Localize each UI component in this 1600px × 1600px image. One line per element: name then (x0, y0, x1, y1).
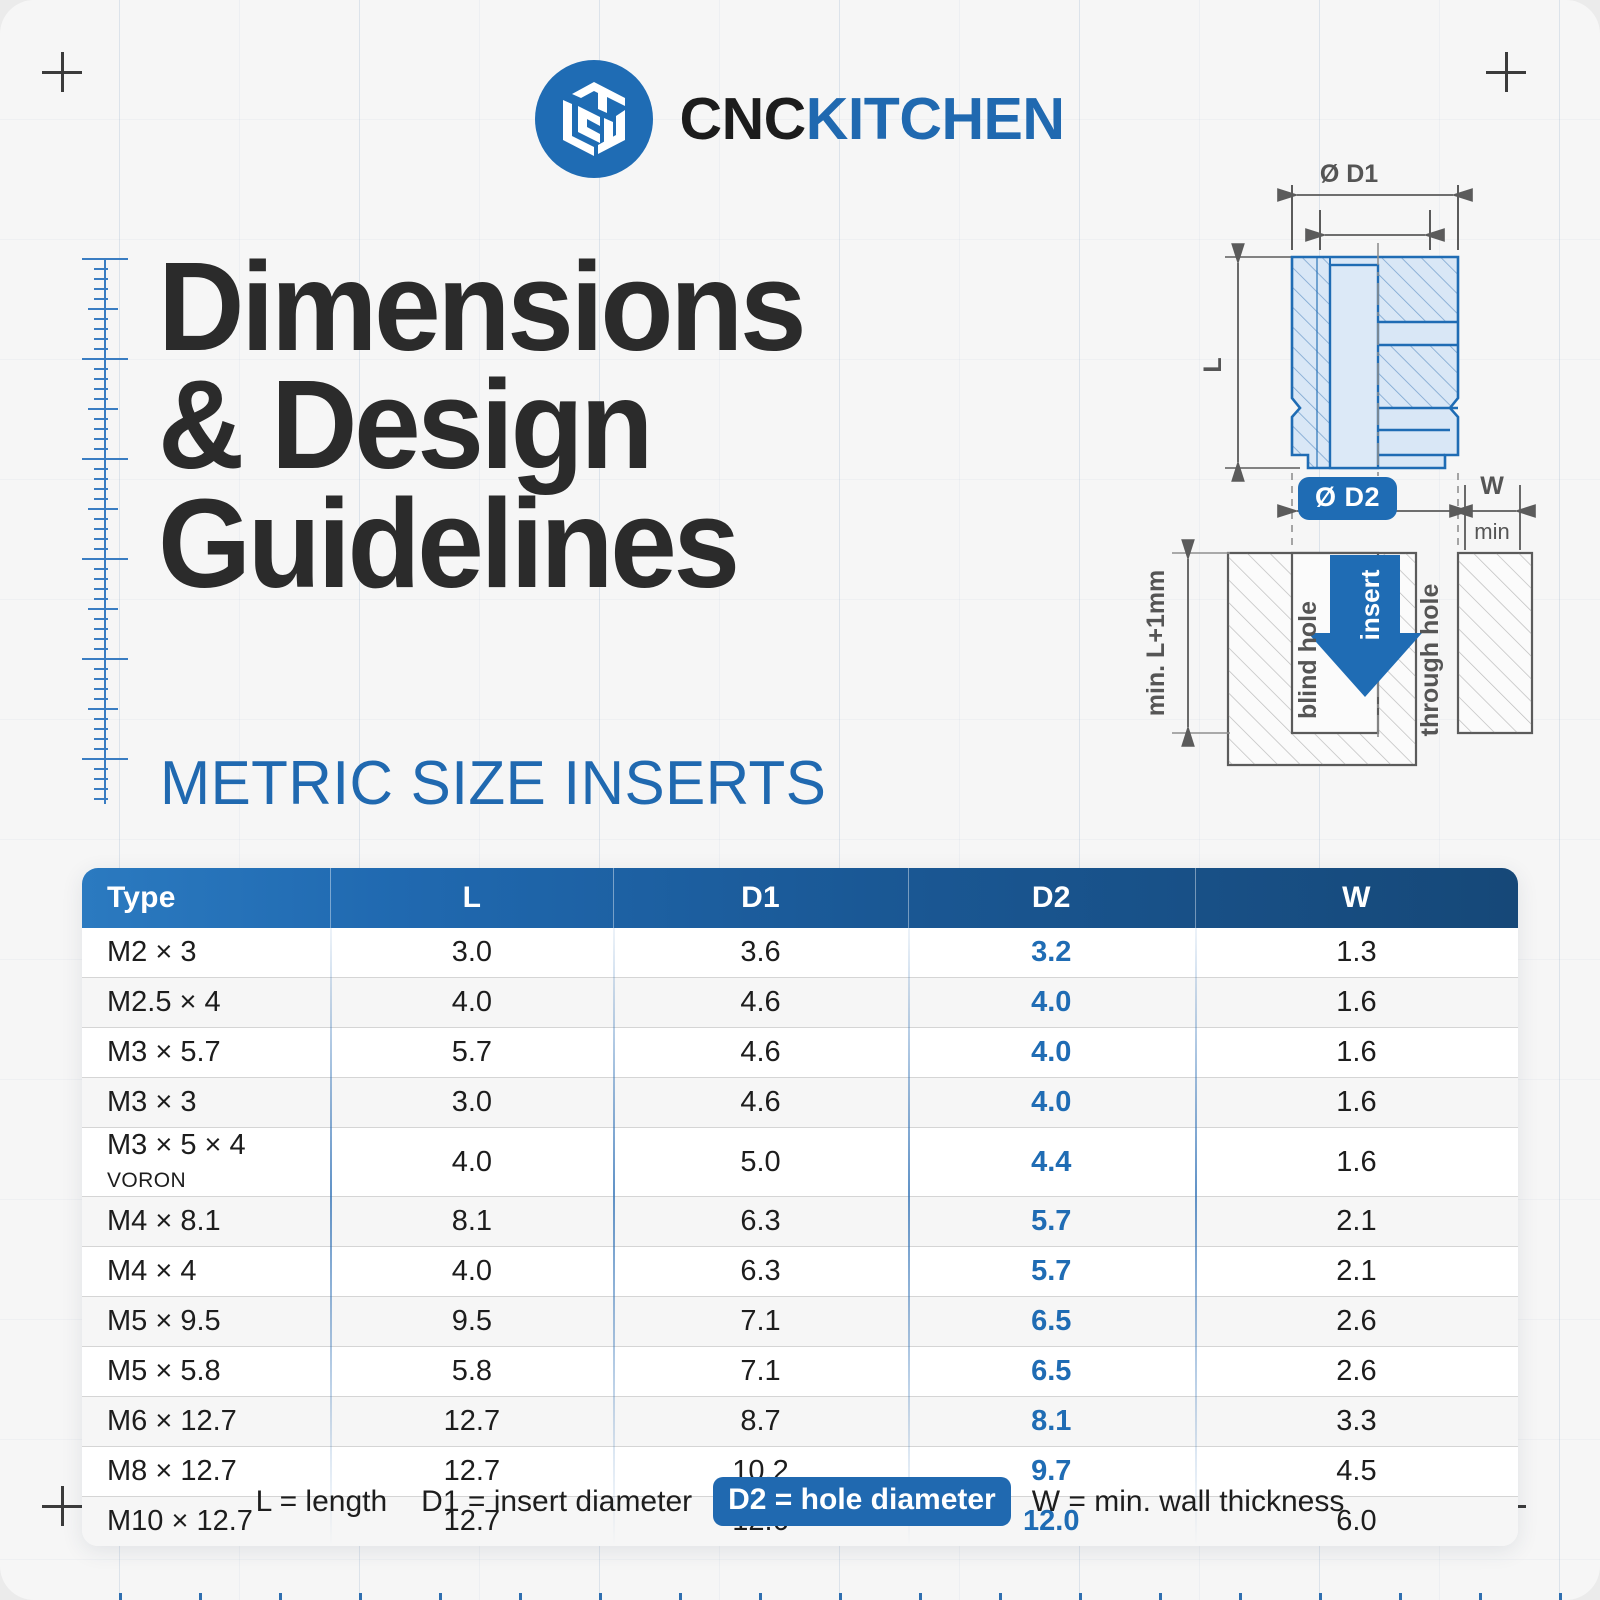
ruler-tick (94, 278, 108, 280)
ruler-tick (94, 548, 108, 550)
column-header-type[interactable]: Type (82, 868, 330, 928)
ruler-tick (94, 798, 108, 800)
table-header-row: Type L D1 D2 W (82, 868, 1518, 928)
table-body: M2 × 33.03.63.21.3M2.5 × 44.04.64.01.6M3… (82, 928, 1518, 1546)
cell-type-suffix: VORON (107, 1169, 186, 1192)
cell-l: 5.8 (330, 1347, 613, 1397)
legend-item-l: L = length (239, 1485, 405, 1519)
ruler-tick (94, 578, 108, 580)
ruler-tick (82, 358, 128, 360)
ruler-tick (94, 738, 108, 740)
bottom-ruler-tick (999, 1593, 1002, 1600)
cell-w: 2.6 (1195, 1347, 1518, 1397)
bottom-ruler-tick (679, 1593, 682, 1600)
ruler-tick (94, 778, 108, 780)
ruler-tick (94, 648, 108, 650)
cell-d1: 4.6 (613, 1078, 907, 1128)
cell-d2: 4.0 (908, 1028, 1195, 1078)
bottom-ruler-tick (919, 1593, 922, 1600)
ruler-tick (94, 588, 108, 590)
cell-d1: 4.6 (613, 978, 907, 1028)
label-through-hole: through hole (1416, 584, 1444, 737)
cell-type: M2.5 × 4 (82, 978, 330, 1028)
bottom-ruler-tick (1479, 1593, 1482, 1600)
title-line-1: Dimensions (158, 248, 994, 366)
ruler-tick (88, 308, 118, 310)
bottom-ruler-tick (439, 1593, 442, 1600)
ruler-tick (94, 668, 108, 670)
cell-w: 1.6 (1195, 978, 1518, 1028)
page-title: Dimensions & Design Guidelines (158, 248, 994, 603)
ruler-tick (94, 518, 108, 520)
ruler-tick (94, 788, 108, 790)
cell-l: 3.0 (330, 928, 613, 978)
ruler-tick (94, 448, 108, 450)
cell-type: M4 × 8.1 (82, 1197, 330, 1247)
ruler-tick (94, 288, 108, 290)
ruler-tick (94, 318, 108, 320)
ruler-tick (82, 758, 128, 760)
ruler-tick (82, 558, 128, 560)
table-row: M5 × 5.85.87.16.52.6 (82, 1347, 1518, 1397)
cell-l: 12.7 (330, 1397, 613, 1447)
title-line-3: Guidelines (158, 485, 994, 603)
cell-w: 3.3 (1195, 1397, 1518, 1447)
ruler-tick (94, 298, 108, 300)
table-row: M3 × 5 × 4 VORON4.05.04.41.6 (82, 1128, 1518, 1197)
column-header-d1[interactable]: D1 (613, 868, 907, 928)
legend-item-w: W = min. wall thickness (1015, 1485, 1362, 1519)
cell-d2: 6.5 (908, 1297, 1195, 1347)
legend-item-d2-highlight: D2 = hole diameter (713, 1477, 1011, 1526)
cell-w: 1.3 (1195, 928, 1518, 978)
cell-type: M5 × 5.8 (82, 1347, 330, 1397)
label-insert: insert (1355, 569, 1385, 640)
cell-w: 1.6 (1195, 1128, 1518, 1197)
cell-d2: 4.4 (908, 1128, 1195, 1197)
table-row: M6 × 12.712.78.78.13.3 (82, 1397, 1518, 1447)
ruler-tick (94, 348, 108, 350)
cell-d2: 5.7 (908, 1197, 1195, 1247)
ruler-tick (88, 608, 118, 610)
title-line-2: & Design (158, 366, 994, 484)
cell-d1: 3.6 (613, 928, 907, 978)
ruler-tick (94, 468, 108, 470)
table-row: M3 × 33.04.64.01.6 (82, 1078, 1518, 1128)
cell-l: 9.5 (330, 1297, 613, 1347)
ruler-tick (94, 748, 108, 750)
cell-type: M5 × 9.5 (82, 1297, 330, 1347)
cell-l: 8.1 (330, 1197, 613, 1247)
label-w: W (1480, 472, 1504, 500)
cell-w: 2.1 (1195, 1247, 1518, 1297)
column-header-d2[interactable]: D2 (908, 868, 1195, 928)
ruler-tick (94, 488, 108, 490)
cell-d2: 6.5 (908, 1347, 1195, 1397)
bottom-ruler-tick (199, 1593, 202, 1600)
label-blind-hole: blind hole (1294, 601, 1322, 719)
cell-d1: 7.1 (613, 1297, 907, 1347)
ruler-tick (94, 398, 108, 400)
table-row: M3 × 5.75.74.64.01.6 (82, 1028, 1518, 1078)
technical-drawing: Ø D1 L (1120, 155, 1560, 815)
ruler-tick (82, 458, 128, 460)
cell-l: 4.0 (330, 1247, 613, 1297)
bottom-ruler-tick (1079, 1593, 1082, 1600)
cell-d2: 4.0 (908, 978, 1195, 1028)
ruler-tick (82, 258, 128, 260)
cell-d2: 4.0 (908, 1078, 1195, 1128)
bottom-ruler-tick (279, 1593, 282, 1600)
cell-d1: 4.6 (613, 1028, 907, 1078)
page-subtitle: METRIC SIZE INSERTS (160, 748, 826, 819)
cnc-kitchen-cube-logo-icon (535, 60, 653, 178)
table-row: M2.5 × 44.04.64.01.6 (82, 978, 1518, 1028)
vertical-ruler (82, 258, 128, 804)
brand-name-kitchen: KITCHEN (806, 86, 1065, 152)
ruler-tick (94, 418, 108, 420)
label-d1: Ø D1 (1320, 160, 1378, 188)
dimensions-table-card: Type L D1 D2 W M2 × 33.03.63.21.3M2.5 × … (82, 868, 1518, 1546)
ruler-tick (94, 378, 108, 380)
cell-type: M3 × 3 (82, 1078, 330, 1128)
ruler-tick (82, 658, 128, 660)
bottom-ruler-tick (1559, 1593, 1562, 1600)
cell-w: 2.1 (1195, 1197, 1518, 1247)
cell-w: 1.6 (1195, 1028, 1518, 1078)
ruler-tick (94, 638, 108, 640)
bottom-ruler-tick (839, 1593, 842, 1600)
legend-item-d1: D1 = insert diameter (404, 1485, 709, 1519)
ruler-tick (94, 428, 108, 430)
badge-d2: Ø D2 (1298, 477, 1397, 520)
cell-l: 4.0 (330, 978, 613, 1028)
ruler-tick (94, 368, 108, 370)
ruler-tick (94, 538, 108, 540)
cell-d1: 7.1 (613, 1347, 907, 1397)
cell-l: 4.0 (330, 1128, 613, 1197)
bottom-ruler (0, 1584, 1600, 1600)
column-header-w[interactable]: W (1195, 868, 1518, 928)
cell-type: M6 × 12.7 (82, 1397, 330, 1447)
table-head: Type L D1 D2 W (82, 868, 1518, 928)
cell-d2: 8.1 (908, 1397, 1195, 1447)
dimensions-table: Type L D1 D2 W M2 × 33.03.63.21.3M2.5 × … (82, 868, 1518, 1546)
bottom-ruler-tick (119, 1593, 122, 1600)
ruler-tick (94, 478, 108, 480)
bottom-ruler-tick (599, 1593, 602, 1600)
cell-d1: 6.3 (613, 1247, 907, 1297)
label-w-min: min (1474, 519, 1509, 544)
table-row: M4 × 44.06.35.72.1 (82, 1247, 1518, 1297)
ruler-tick (94, 338, 108, 340)
label-depth: min. L+1mm (1142, 570, 1170, 717)
legend-row: L = length D1 = insert diameter D2 = hol… (0, 1477, 1600, 1526)
cell-d2: 3.2 (908, 928, 1195, 978)
label-l: L (1199, 357, 1227, 372)
cell-type: M3 × 5.7 (82, 1028, 330, 1078)
ruler-tick (94, 728, 108, 730)
poster-page: CNCKITCHEN Dimensions & Design Guideline… (0, 0, 1600, 1600)
column-header-l[interactable]: L (330, 868, 613, 928)
cell-d2: 5.7 (908, 1247, 1195, 1297)
cell-d1: 8.7 (613, 1397, 907, 1447)
ruler-tick (88, 508, 118, 510)
ruler-tick (94, 598, 108, 600)
ruler-tick (94, 498, 108, 500)
cell-type: M2 × 3 (82, 928, 330, 978)
ruler-tick (94, 718, 108, 720)
cell-l: 5.7 (330, 1028, 613, 1078)
ruler-tick (94, 698, 108, 700)
table-row: M2 × 33.03.63.21.3 (82, 928, 1518, 978)
ruler-tick (94, 688, 108, 690)
bottom-ruler-tick (359, 1593, 362, 1600)
bottom-ruler-tick (1319, 1593, 1322, 1600)
cell-l: 3.0 (330, 1078, 613, 1128)
table-row: M5 × 9.59.57.16.52.6 (82, 1297, 1518, 1347)
cell-type: M3 × 5 × 4 VORON (82, 1128, 330, 1197)
cell-d1: 6.3 (613, 1197, 907, 1247)
ruler-tick (94, 618, 108, 620)
cell-w: 1.6 (1195, 1078, 1518, 1128)
ruler-tick (94, 568, 108, 570)
cell-d1: 5.0 (613, 1128, 907, 1197)
ruler-tick (88, 708, 118, 710)
ruler-tick (94, 438, 108, 440)
cell-w: 2.6 (1195, 1297, 1518, 1347)
ruler-tick (94, 388, 108, 390)
ruler-tick (88, 408, 118, 410)
bottom-ruler-tick (1239, 1593, 1242, 1600)
brand-name-cnc: CNC (679, 86, 805, 152)
ruler-tick (94, 628, 108, 630)
ruler-tick (94, 328, 108, 330)
ruler-tick (94, 268, 108, 270)
brand-wordmark: CNCKITCHEN (679, 90, 1064, 149)
bottom-ruler-tick (519, 1593, 522, 1600)
bottom-ruler-tick (1159, 1593, 1162, 1600)
ruler-tick (94, 768, 108, 770)
bottom-ruler-tick (1399, 1593, 1402, 1600)
table-row: M4 × 8.18.16.35.72.1 (82, 1197, 1518, 1247)
bottom-ruler-tick (759, 1593, 762, 1600)
cell-type: M4 × 4 (82, 1247, 330, 1297)
ruler-tick (94, 678, 108, 680)
ruler-tick (94, 528, 108, 530)
